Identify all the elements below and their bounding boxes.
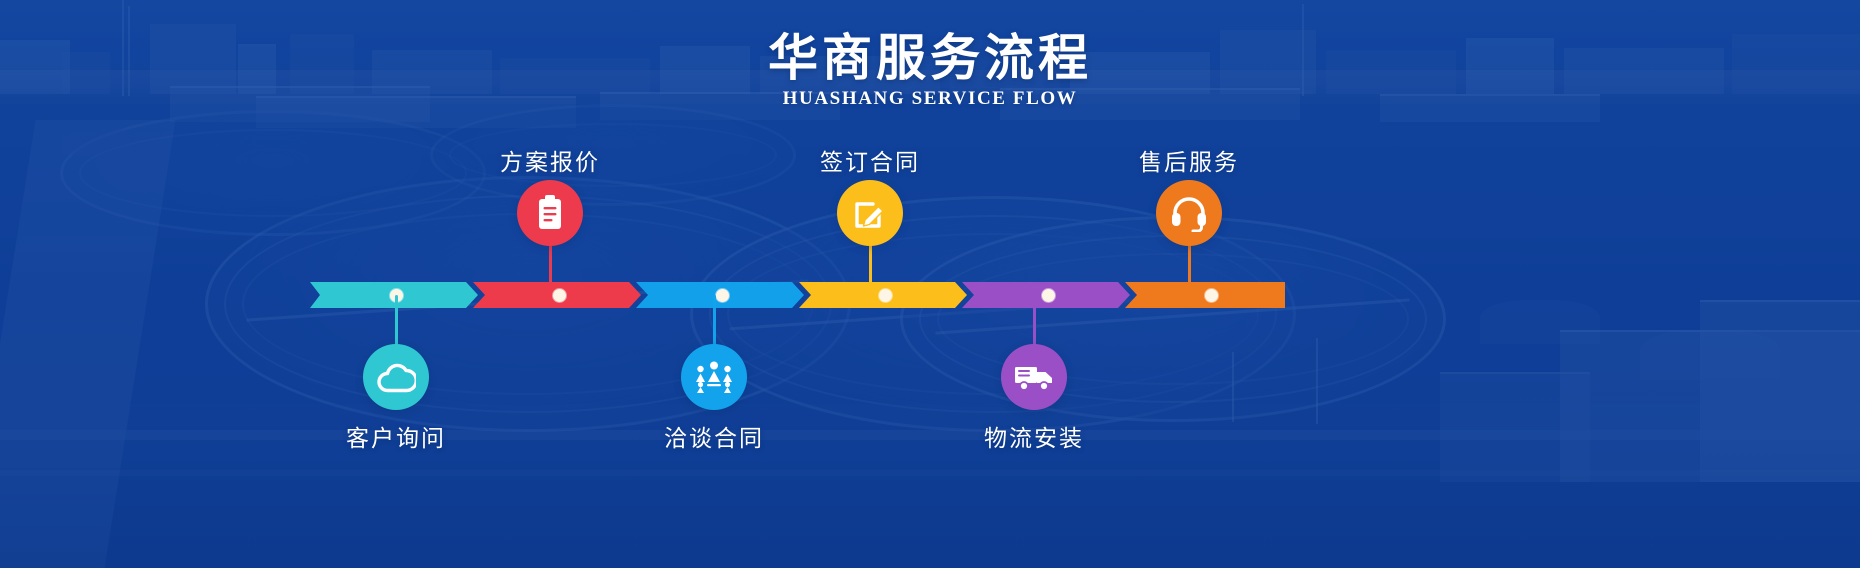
step-5-label: 物流安装 — [974, 419, 1094, 453]
process-flow-bar — [310, 282, 1268, 308]
page-title: 华商服务流程 — [0, 18, 1860, 90]
stem-step-1 — [395, 295, 398, 351]
flow-segment-6[interactable] — [1125, 282, 1285, 308]
flow-segment-3[interactable] — [636, 282, 804, 308]
step-2-label: 方案报价 — [490, 143, 610, 177]
flow-segment-2[interactable] — [473, 282, 641, 308]
cloud-icon — [376, 361, 416, 393]
stem-step-6 — [1188, 240, 1191, 296]
step-2-icon-bubble[interactable] — [517, 180, 583, 246]
people-meeting-icon — [694, 360, 734, 394]
stem-step-2 — [549, 240, 552, 296]
flow-node-dot-4 — [879, 289, 892, 302]
flow-node-dot-3 — [716, 289, 729, 302]
step-3-icon-bubble[interactable] — [681, 344, 747, 410]
stem-step-3 — [713, 295, 716, 351]
sign-contract-icon — [851, 194, 889, 232]
headset-support-icon — [1170, 194, 1208, 232]
step-6-label: 售后服务 — [1129, 143, 1249, 177]
document-list-icon — [534, 193, 566, 233]
step-5-icon-bubble[interactable] — [1001, 344, 1067, 410]
flow-node-dot-6 — [1205, 289, 1218, 302]
delivery-truck-icon — [1013, 362, 1055, 392]
page-subtitle: HUASHANG SERVICE FLOW — [0, 88, 1860, 110]
flow-segment-4[interactable] — [799, 282, 967, 308]
step-1-label: 客户询问 — [336, 419, 456, 453]
flow-segment-5[interactable] — [962, 282, 1130, 308]
flow-node-dot-5 — [1042, 289, 1055, 302]
step-1-icon-bubble[interactable] — [363, 344, 429, 410]
stem-step-4 — [869, 240, 872, 296]
flow-segment-1[interactable] — [310, 282, 478, 308]
step-6-icon-bubble[interactable] — [1156, 180, 1222, 246]
banner-stage: 华商服务流程 HUASHANG SERVICE FLOW — [0, 0, 1860, 568]
flow-node-dot-2 — [553, 289, 566, 302]
step-4-label: 签订合同 — [810, 143, 930, 177]
step-3-label: 洽谈合同 — [654, 419, 774, 453]
stem-step-5 — [1033, 295, 1036, 351]
step-4-icon-bubble[interactable] — [837, 180, 903, 246]
